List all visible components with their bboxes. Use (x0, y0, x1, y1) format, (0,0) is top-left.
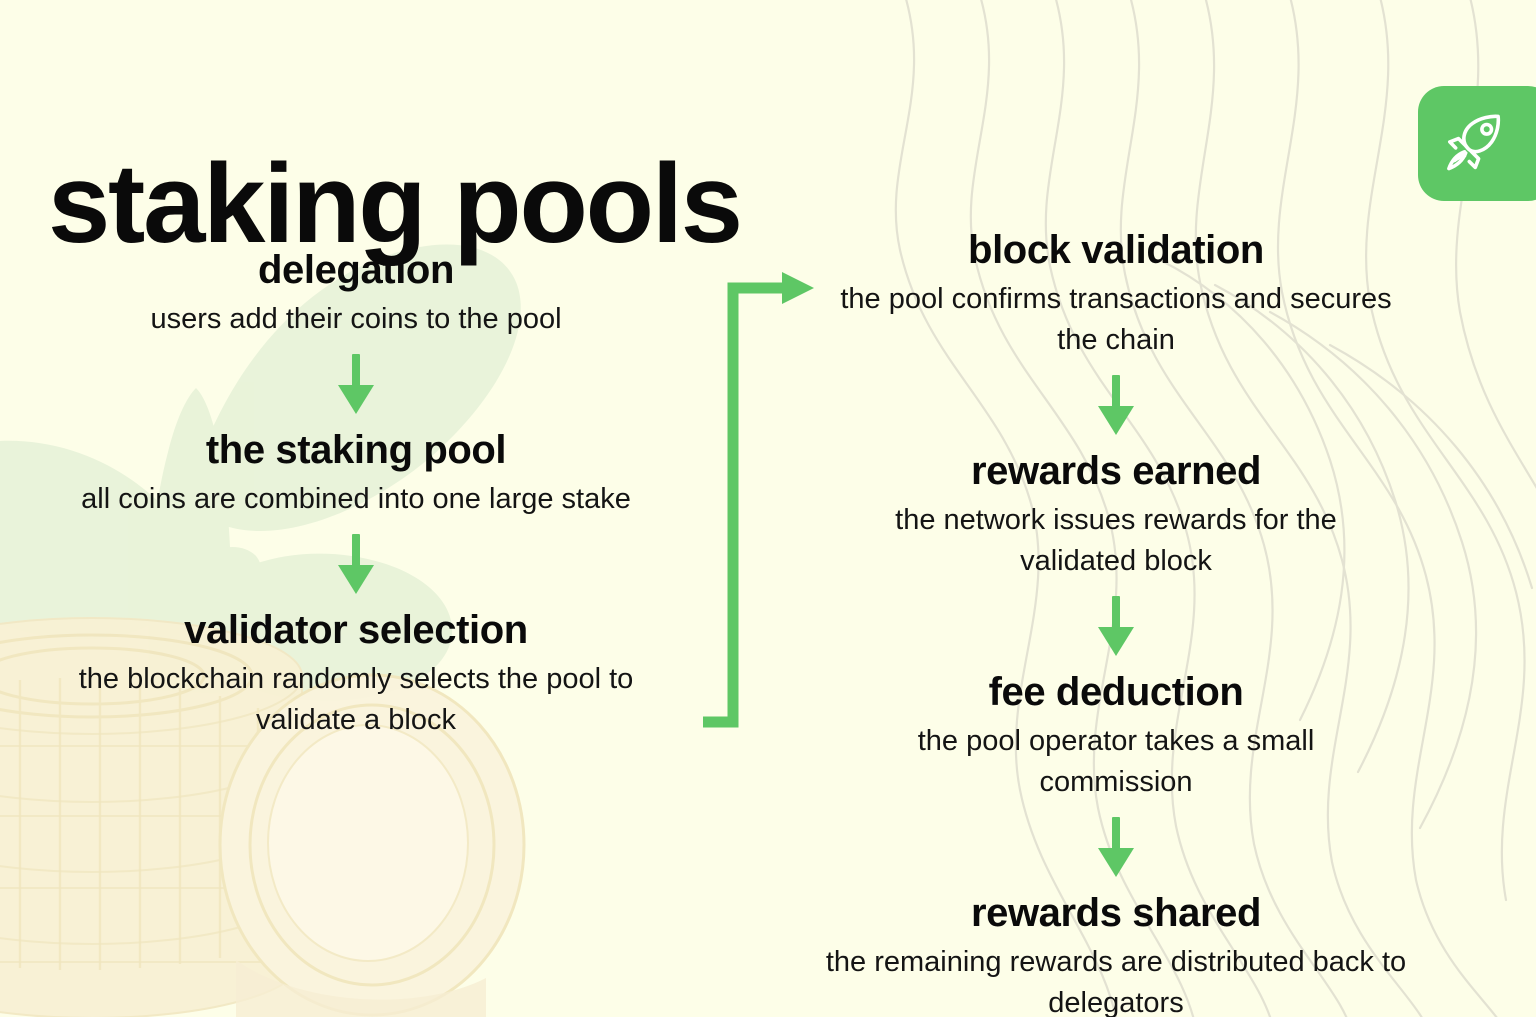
step-title: validator selection (20, 608, 692, 653)
step-title: rewards shared (800, 891, 1432, 936)
flow-step-block-validation: block validation the pool confirms trans… (800, 228, 1432, 361)
step-description: all coins are combined into one large st… (69, 479, 644, 520)
flow-step-validator-selection: validator selection the blockchain rando… (20, 608, 692, 741)
step-description: the pool confirms transactions and secur… (836, 279, 1396, 361)
step-title: the staking pool (20, 428, 692, 473)
step-description: the pool operator takes a small commissi… (866, 721, 1366, 803)
step-description: the remaining rewards are distributed ba… (811, 942, 1421, 1017)
arrow-down-icon (800, 817, 1432, 879)
flow-column-left: delegation users add their coins to the … (20, 248, 692, 741)
flow-step-fee-deduction: fee deduction the pool operator takes a … (800, 670, 1432, 803)
rocket-icon (1436, 108, 1508, 180)
flow-step-rewards-shared: rewards shared the remaining rewards are… (800, 891, 1432, 1017)
flow-column-right: block validation the pool confirms trans… (800, 228, 1432, 1017)
flow-step-the-staking-pool: the staking pool all coins are combined … (20, 428, 692, 520)
step-title: rewards earned (800, 449, 1432, 494)
arrow-down-icon (800, 375, 1432, 437)
page-title: staking pools (48, 148, 741, 260)
infographic-canvas: staking pools delegation users add their… (0, 0, 1536, 1017)
arrow-down-icon (20, 354, 692, 416)
flow-step-rewards-earned: rewards earned the network issues reward… (800, 449, 1432, 582)
arrow-down-icon (20, 534, 692, 596)
rocket-badge[interactable] (1418, 86, 1536, 201)
step-description: users add their coins to the pool (46, 299, 666, 340)
arrow-down-icon (800, 596, 1432, 658)
step-description: the network issues rewards for the valid… (844, 500, 1389, 582)
step-title: fee deduction (800, 670, 1432, 715)
step-title: block validation (800, 228, 1432, 273)
step-description: the blockchain randomly selects the pool… (36, 659, 676, 741)
